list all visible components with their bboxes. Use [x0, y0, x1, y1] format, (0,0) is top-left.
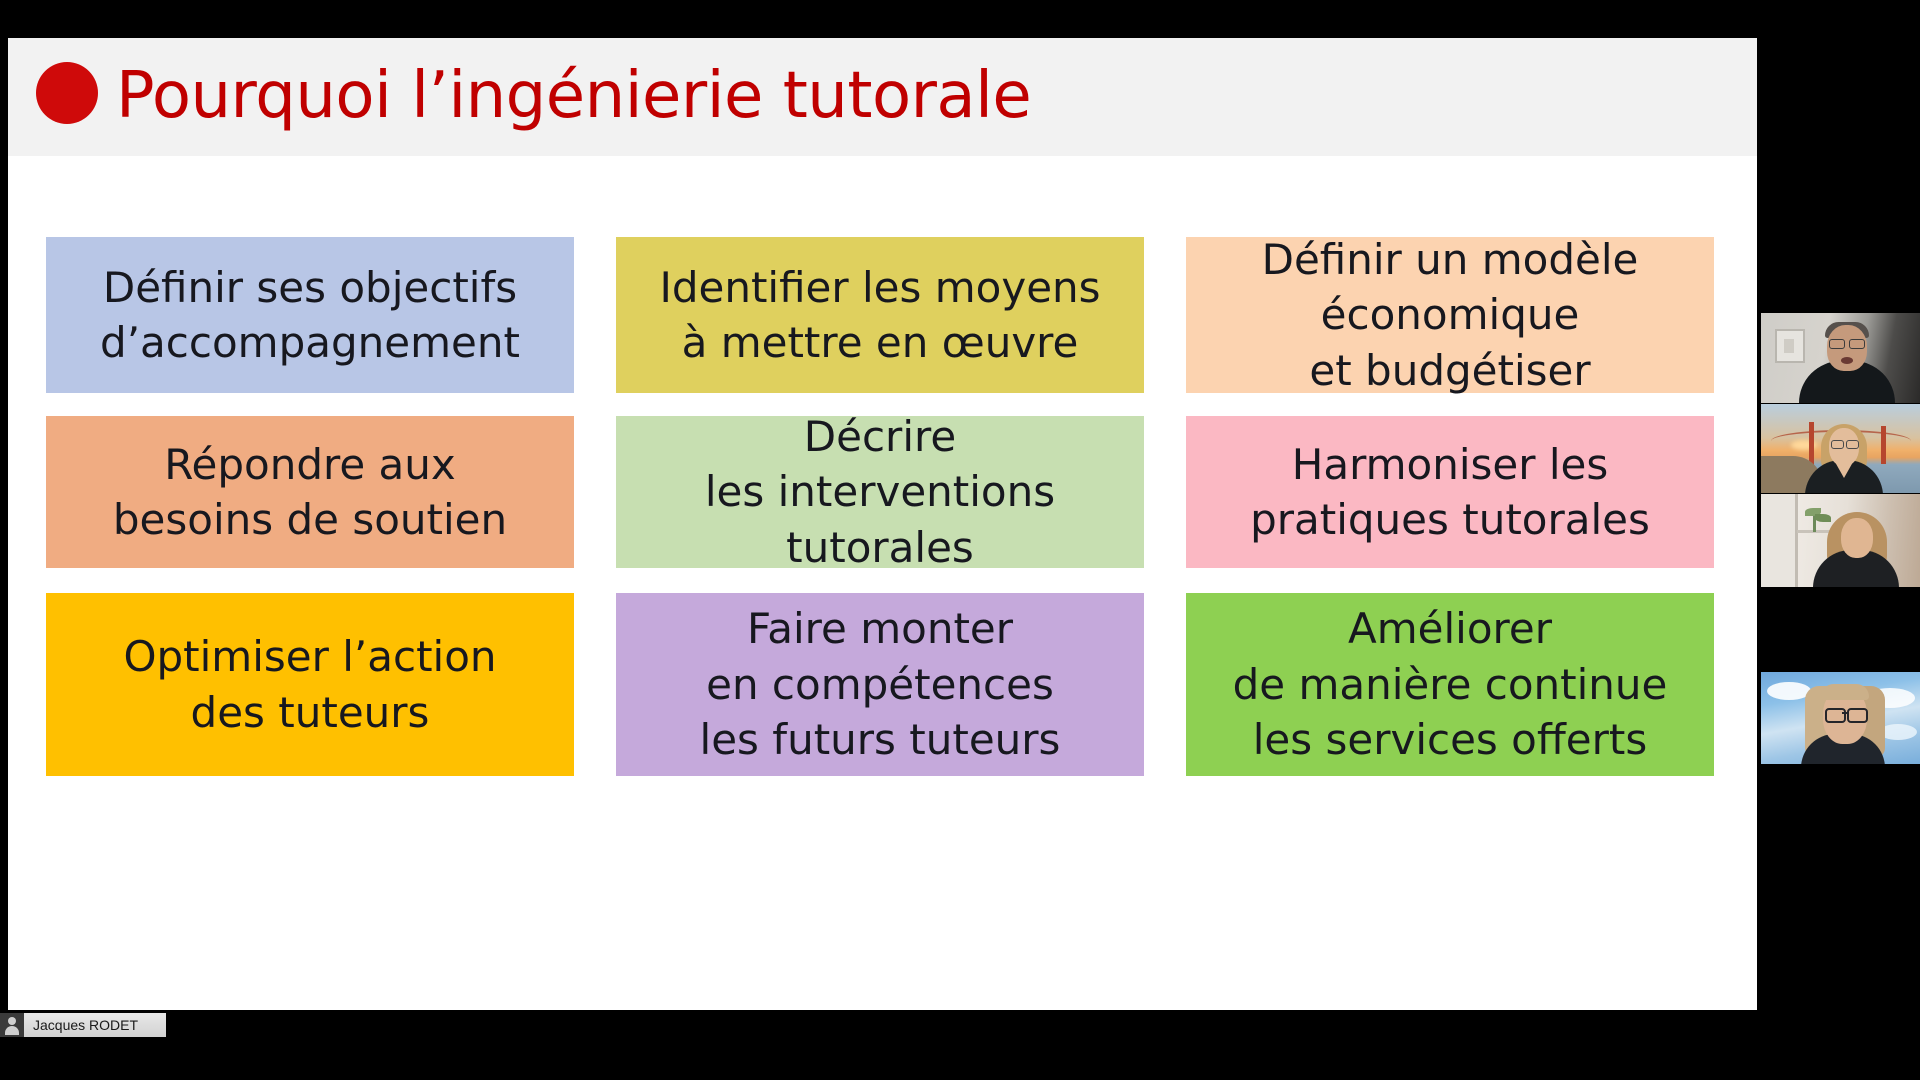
slide-box-optimiser: Optimiser l’actiondes tuteurs — [46, 593, 574, 776]
slide-box-competences: Faire monteren compétencesles futurs tut… — [616, 593, 1144, 776]
eyeglass-left — [1829, 339, 1845, 349]
door-frame — [1761, 494, 1798, 587]
eyeglass-left — [1825, 708, 1846, 723]
participant-mouth — [1841, 357, 1853, 364]
slide-box-text: Harmoniser lespratiques tutorales — [1250, 437, 1650, 548]
speaker-name: Jacques RODET — [24, 1017, 138, 1033]
slide-title: Pourquoi l’ingénierie tutorale — [116, 51, 1031, 141]
participant-fringe — [1821, 684, 1869, 700]
active-speaker-name-bar: Jacques RODET — [0, 1013, 166, 1037]
slide-box-besoins: Répondre auxbesoins de soutien — [46, 416, 574, 568]
eyeglass-left — [1831, 440, 1844, 449]
participant-video-tile-4[interactable] — [1761, 672, 1920, 764]
participant-video-tile-2[interactable] — [1761, 404, 1920, 493]
bridge-tower-left — [1809, 422, 1814, 466]
eyeglass-right — [1849, 339, 1865, 349]
bridge-tower-right — [1881, 426, 1886, 464]
slide-content-grid: Définir ses objectifsd’accompagnement Id… — [38, 193, 1728, 993]
participant-video-strip[interactable] — [1761, 0, 1920, 1080]
slide-box-text: Décrireles interventionstutorales — [705, 409, 1055, 575]
participant-video-tile-1[interactable] — [1761, 313, 1920, 403]
eyeglass-right — [1846, 440, 1859, 449]
participant-face — [1841, 518, 1873, 558]
participant-video-tile-3[interactable] — [1761, 494, 1920, 587]
eyeglass-bridge — [1842, 712, 1847, 714]
wall-picture-frame — [1775, 329, 1805, 363]
slide-box-text: Répondre auxbesoins de soutien — [113, 437, 507, 548]
eyeglass-right — [1847, 708, 1868, 723]
slide-box-harmoniser: Harmoniser lespratiques tutorales — [1186, 416, 1714, 568]
slide-box-ameliorer: Améliorerde manière continueles services… — [1186, 593, 1714, 776]
slide-box-text: Optimiser l’actiondes tuteurs — [123, 629, 496, 740]
slide-box-interventions: Décrireles interventionstutorales — [616, 416, 1144, 568]
slide-box-text: Améliorerde manière continueles services… — [1233, 601, 1668, 767]
person-avatar-icon — [0, 1013, 24, 1037]
slide-box-objectifs: Définir ses objectifsd’accompagnement — [46, 237, 574, 393]
slide-box-text: Identifier les moyensà mettre en œuvre — [659, 260, 1100, 371]
red-circle-bullet-icon — [36, 62, 98, 124]
presentation-slide: Pourquoi l’ingénierie tutorale Définir s… — [8, 38, 1757, 1010]
slide-box-text: Définir ses objectifsd’accompagnement — [100, 260, 520, 371]
slide-box-moyens: Identifier les moyensà mettre en œuvre — [616, 237, 1144, 393]
slide-box-modele: Définir un modèleéconomiqueet budgétiser — [1186, 237, 1714, 393]
slide-box-text: Faire monteren compétencesles futurs tut… — [700, 601, 1061, 767]
slide-box-text: Définir un modèleéconomiqueet budgétiser — [1262, 232, 1639, 398]
plant-leaf — [1815, 514, 1831, 522]
